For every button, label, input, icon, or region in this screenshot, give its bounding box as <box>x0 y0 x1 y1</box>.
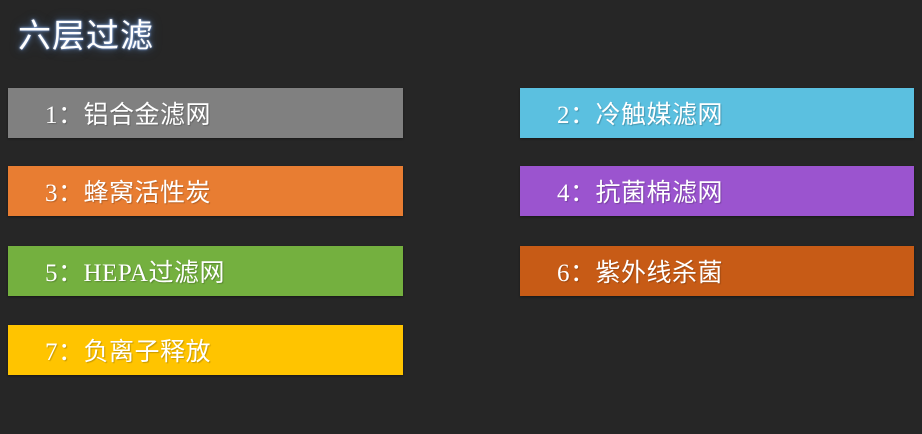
filter-bar-7[interactable]: 7：负离子释放 <box>8 325 403 375</box>
filter-bar-2-label: 2：冷触媒滤网 <box>520 95 723 131</box>
filter-bar-1[interactable]: 1：铝合金滤网 <box>8 88 403 138</box>
filter-bar-3-label: 3：蜂窝活性炭 <box>8 173 211 209</box>
slide-canvas: 六层过滤 1：铝合金滤网 2：冷触媒滤网 3：蜂窝活性炭 4：抗菌棉滤网 5：H… <box>0 0 922 434</box>
filter-bar-3[interactable]: 3：蜂窝活性炭 <box>8 166 403 216</box>
filter-bar-4-label: 4：抗菌棉滤网 <box>520 173 723 209</box>
filter-bar-6-label: 6：紫外线杀菌 <box>520 253 723 289</box>
page-title: 六层过滤 <box>18 9 154 57</box>
filter-bar-6[interactable]: 6：紫外线杀菌 <box>520 246 914 296</box>
filter-bar-1-label: 1：铝合金滤网 <box>8 95 211 131</box>
filter-bar-4[interactable]: 4：抗菌棉滤网 <box>520 166 914 216</box>
filter-bar-5[interactable]: 5：HEPA过滤网 <box>8 246 403 296</box>
filter-bar-2[interactable]: 2：冷触媒滤网 <box>520 88 914 138</box>
filter-bar-5-label: 5：HEPA过滤网 <box>8 253 225 289</box>
filter-bar-7-label: 7：负离子释放 <box>8 332 211 368</box>
